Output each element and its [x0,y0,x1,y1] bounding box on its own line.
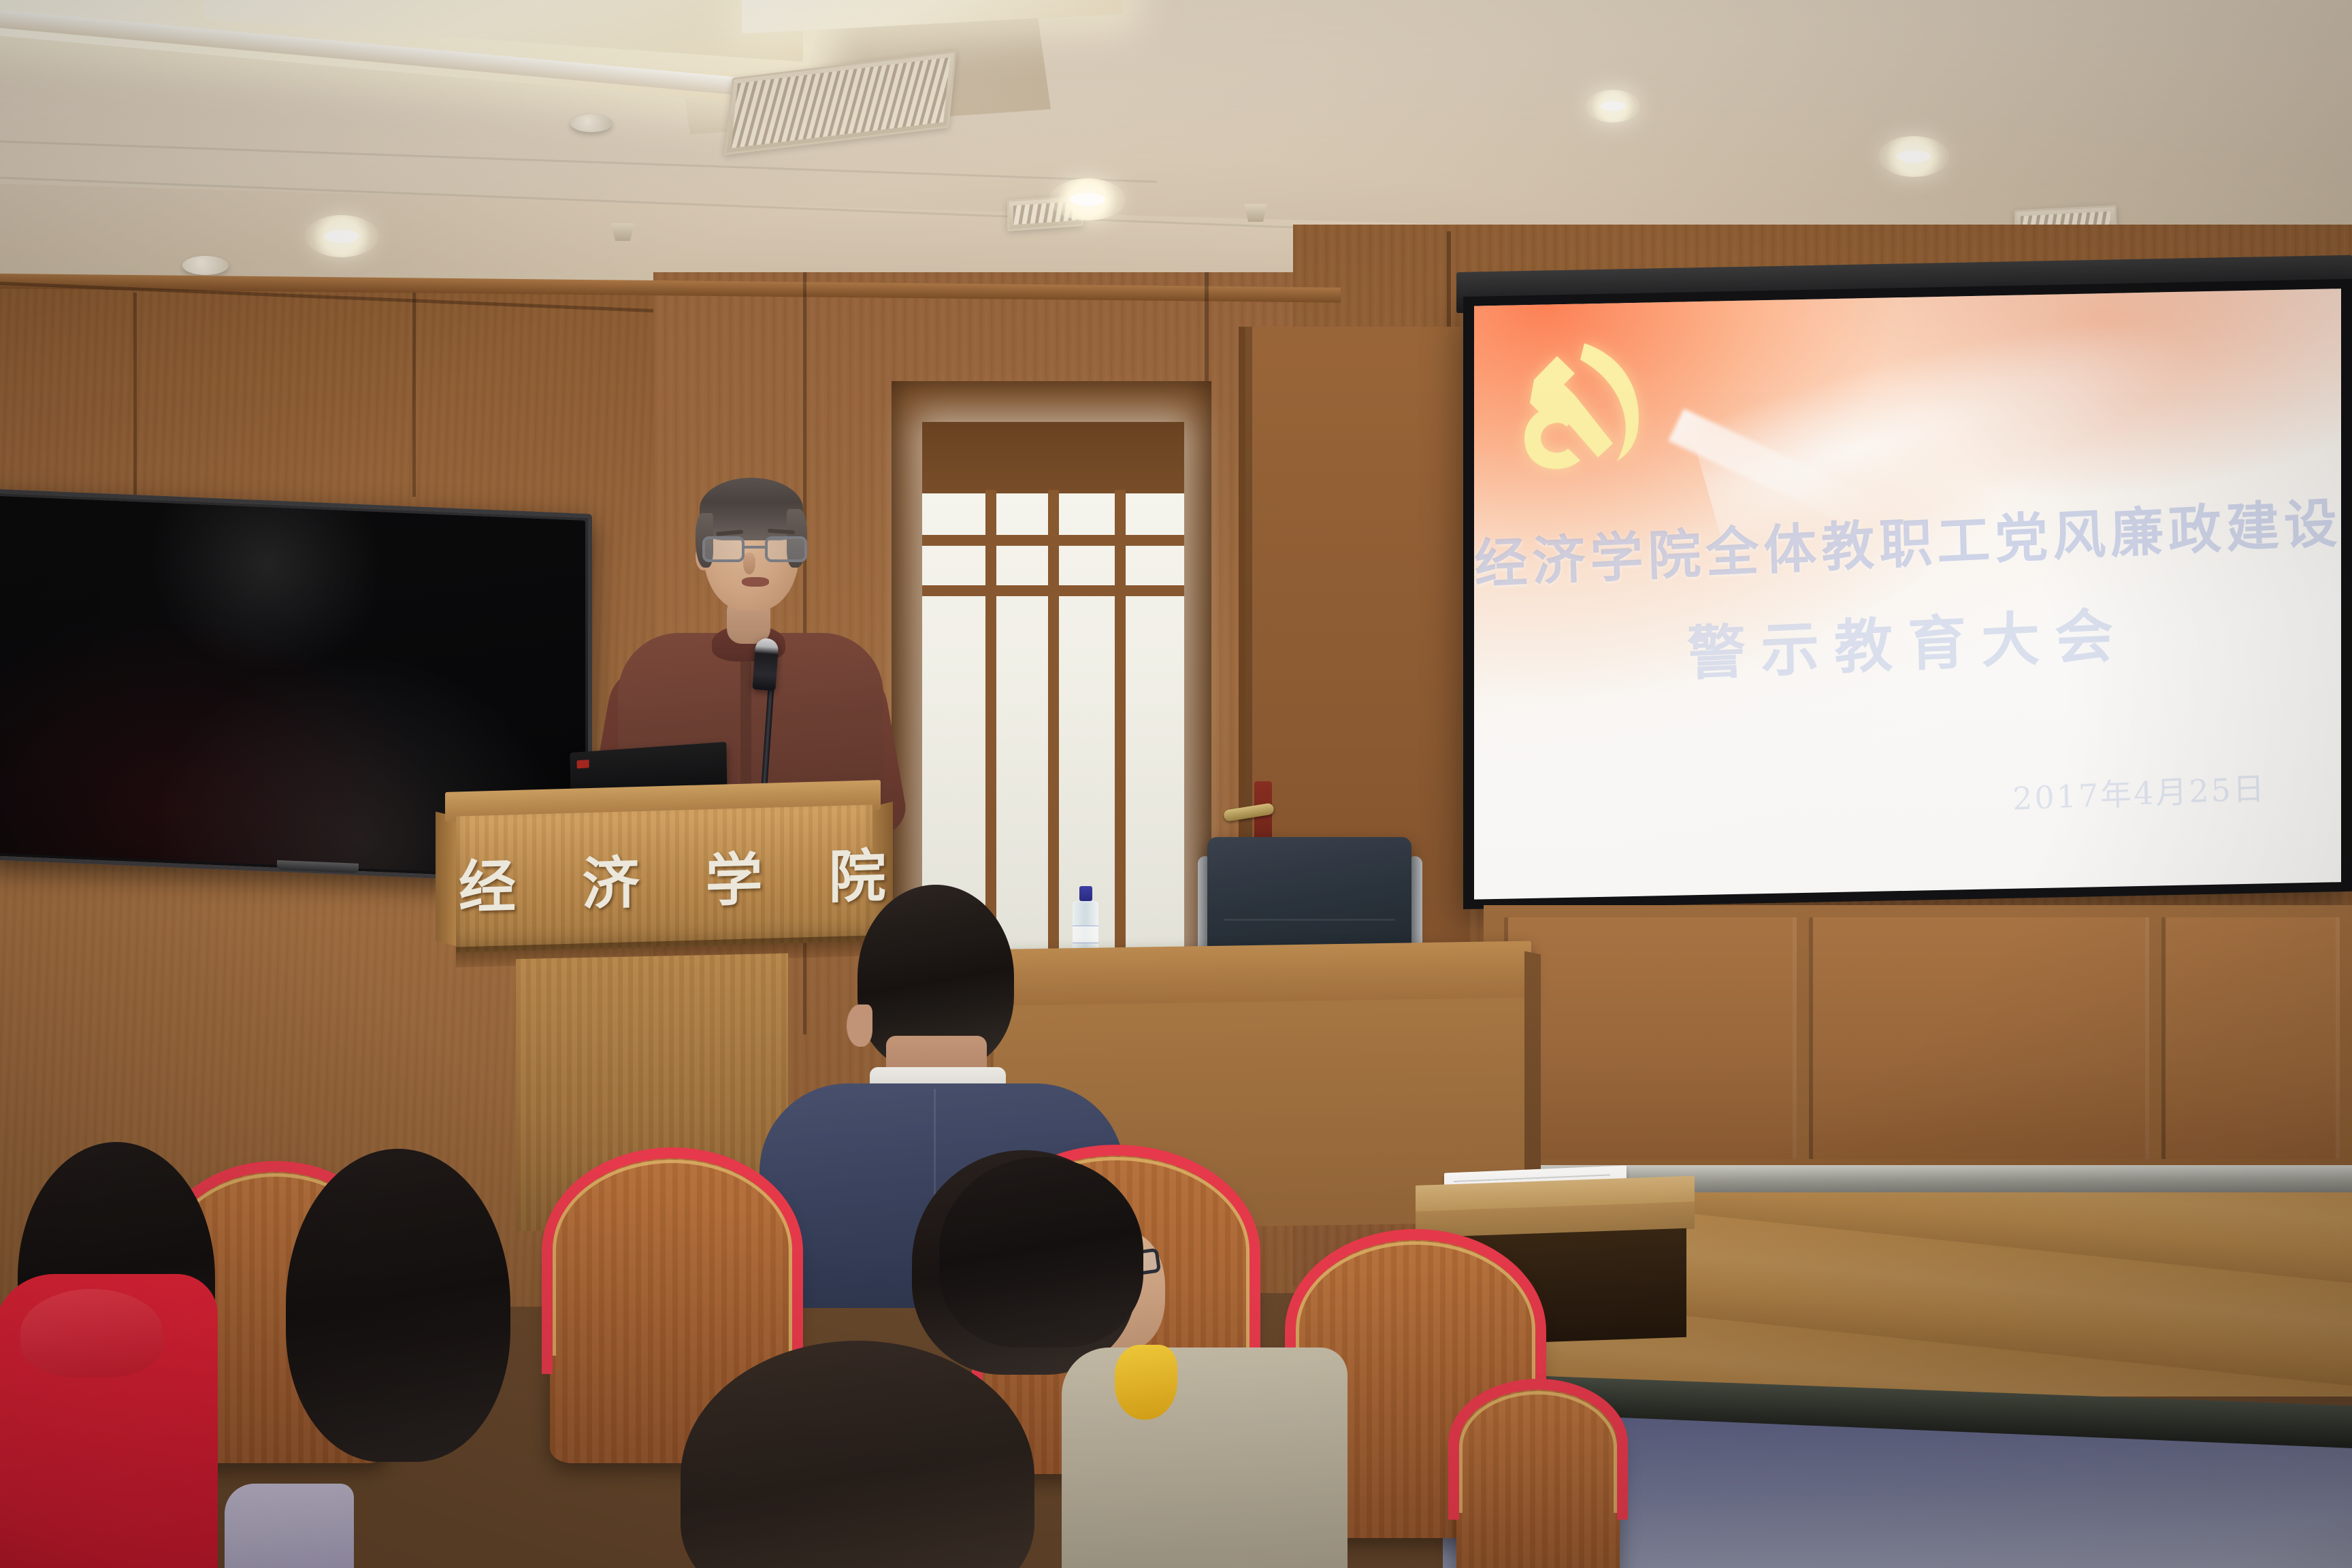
window-shade[interactable] [922,422,1184,493]
seat-gold-piping [1459,1391,1617,1513]
wall-seam [133,293,137,497]
eyeglass-lens [765,536,807,562]
hammer-and-sickle-emblem-icon [1504,333,1661,473]
projected-slide: 经济学院全体教职工党风廉政建设 警示教育大会 2017年4月25日 [1474,289,2341,900]
wall-seam [412,293,416,497]
smoke-detector-icon [182,256,229,275]
microphone-icon[interactable] [752,638,779,691]
wainscot-panel [1809,917,2149,1159]
wainscot-panel [2161,917,2340,1159]
smoke-detector-icon [570,114,612,132]
eyeglass-lens [702,536,745,562]
attendee-long-hair [286,1149,510,1462]
ceiling-downlight-icon [305,215,378,257]
ceiling-seam [0,140,1157,182]
window-mullion [922,535,1184,546]
seat-gold-piping [553,1160,792,1356]
wainscot-panel [1504,917,1797,1159]
attendee-lavender-top [225,1484,354,1568]
yellow-scarf [1115,1345,1177,1420]
presenter-nose [743,553,755,574]
ceiling-downlight-icon [1049,178,1126,220]
slide-date: 2017年4月25日 [2012,764,2266,819]
window-mullion [922,585,1184,596]
slide-subtitle: 警示教育大会 [1474,578,2341,700]
stage-wainscot [1484,905,2352,1174]
presenter-mouth [742,577,769,587]
attendee-red-hoodie [0,1274,218,1568]
ceiling-downlight-icon [1878,136,1949,177]
eyeglass-bridge [745,546,765,549]
ceiling-downlight-icon [1586,90,1640,122]
attendee-short-hair [939,1157,1143,1347]
auditorium-seat[interactable] [1456,1388,1620,1568]
beige-coat [1062,1347,1347,1568]
projection-screen: 经济学院全体教职工党风廉政建设 警示教育大会 2017年4月25日 [1463,279,2352,909]
conference-hall-photo: 经济学院全体教职工党风廉政建设 警示教育大会 2017年4月25日 [0,0,2352,1568]
attendee-ear [847,1004,872,1047]
